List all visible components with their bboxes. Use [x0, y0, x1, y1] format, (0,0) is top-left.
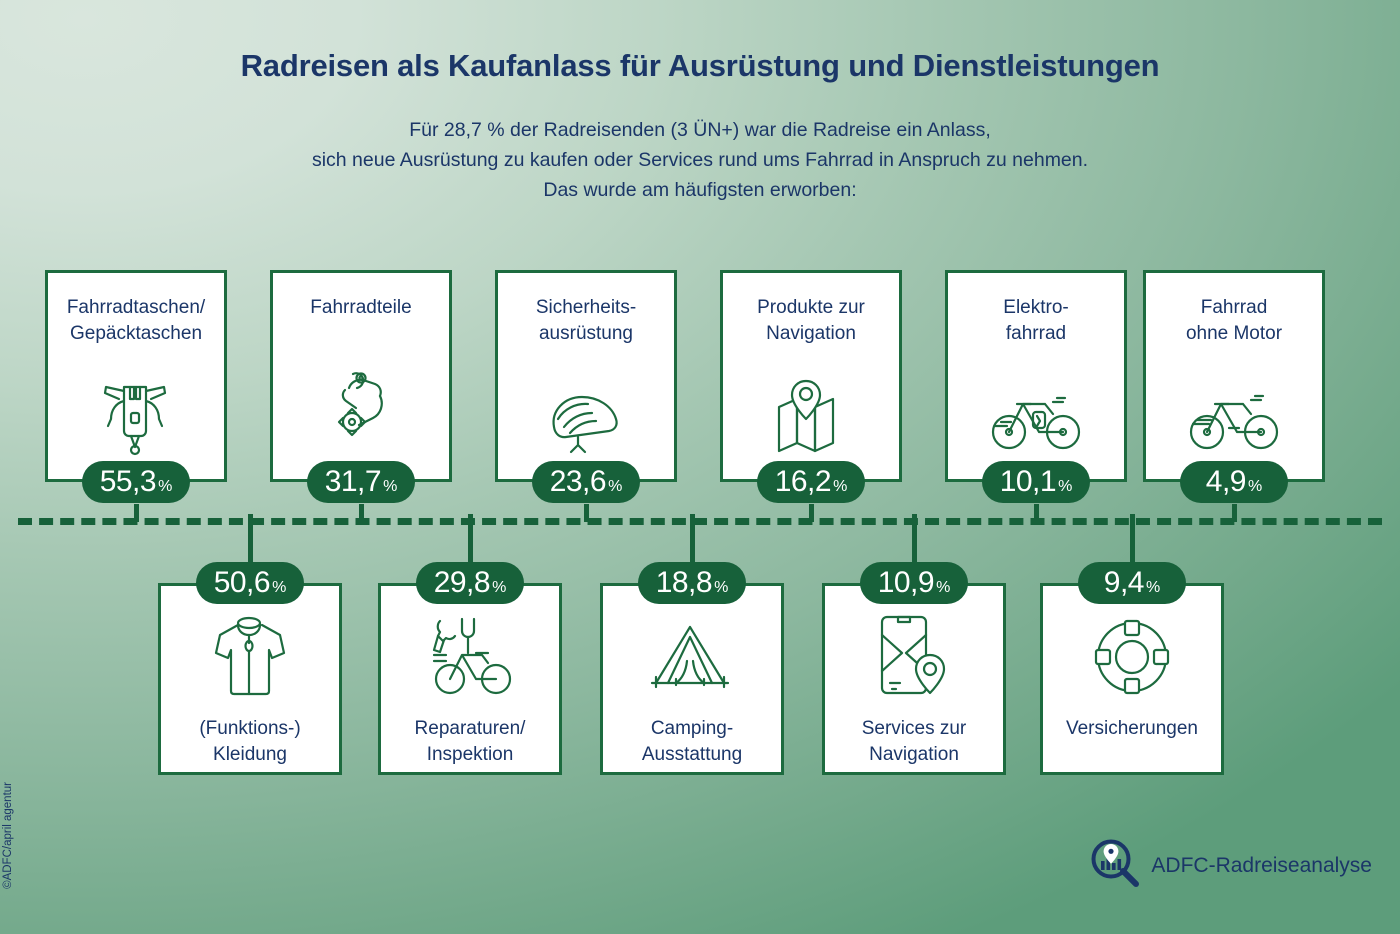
connector-stem	[359, 504, 364, 522]
card-label-line-2: Navigation	[825, 742, 1003, 768]
infographic-canvas: Radreisen als Kaufanlass für Ausrüstung …	[0, 0, 1400, 934]
card-label-line-2: Kleidung	[161, 742, 339, 768]
value-number: 10,9	[878, 562, 934, 604]
phone-map-icon	[825, 614, 1003, 700]
card-label: Camping-Ausstattung	[603, 716, 781, 768]
category-card-bottom[interactable]: Camping-Ausstattung	[600, 583, 784, 775]
card-label-line-2: fahrrad	[948, 321, 1124, 347]
value-pill-bottom: 50,6%	[196, 562, 304, 604]
card-label-line-1: Fahrradteile	[273, 295, 449, 321]
value-pill-bottom: 10,9%	[860, 562, 968, 604]
connector-stem	[1034, 504, 1039, 522]
card-label: Elektro-fahrrad	[948, 295, 1124, 347]
value-number: 29,8	[434, 562, 490, 604]
category-card-top[interactable]: Fahrradteile	[270, 270, 452, 482]
card-label-line-1: Services zur	[825, 716, 1003, 742]
percent-sign: %	[608, 478, 622, 496]
page-title: Radreisen als Kaufanlass für Ausrüstung …	[0, 48, 1400, 84]
value-pill-top: 23,6%	[532, 461, 640, 503]
category-card-top[interactable]: Elektro-fahrrad	[945, 270, 1127, 482]
value-pill-bottom: 9,4%	[1078, 562, 1186, 604]
magnifier-chart-icon	[1087, 837, 1141, 894]
card-label: Versicherungen	[1043, 716, 1221, 742]
lifebuoy-icon	[1043, 614, 1221, 700]
category-card-bottom[interactable]: Versicherungen	[1040, 583, 1224, 775]
percent-sign: %	[833, 478, 847, 496]
derailleur-icon	[273, 331, 449, 479]
connector-stem	[134, 504, 139, 522]
tools-bike-icon	[381, 614, 559, 700]
category-card-top[interactable]: Produkte zurNavigation	[720, 270, 902, 482]
percent-sign: %	[492, 579, 506, 597]
card-label-line-1: Versicherungen	[1043, 716, 1221, 742]
value-number: 4,9	[1206, 461, 1246, 503]
card-label: Produkte zurNavigation	[723, 295, 899, 347]
card-label-line-2: Gepäcktaschen	[48, 321, 224, 347]
value-number: 23,6	[550, 461, 606, 503]
card-label: Fahrradohne Motor	[1146, 295, 1322, 347]
card-label-line-2: Navigation	[723, 321, 899, 347]
percent-sign: %	[158, 478, 172, 496]
category-card-bottom[interactable]: (Funktions-)Kleidung	[158, 583, 342, 775]
value-pill-top: 55,3%	[82, 461, 190, 503]
card-label-line-2: Inspektion	[381, 742, 559, 768]
connector-stem	[1232, 504, 1237, 522]
card-label-line-1: Fahrradtaschen/	[48, 295, 224, 321]
card-label: Reparaturen/Inspektion	[381, 716, 559, 768]
card-label: Fahrradteile	[273, 295, 449, 321]
percent-sign: %	[383, 478, 397, 496]
value-number: 31,7	[325, 461, 381, 503]
value-pill-bottom: 29,8%	[416, 562, 524, 604]
page-subtitle: Für 28,7 % der Radreisenden (3 ÜN+) war …	[0, 115, 1400, 205]
category-card-top[interactable]: Fahrradohne Motor	[1143, 270, 1325, 482]
jersey-shirt-icon	[161, 614, 339, 700]
category-card-bottom[interactable]: Services zurNavigation	[822, 583, 1006, 775]
card-label-line-1: Produkte zur	[723, 295, 899, 321]
brand-name: ADFC-Radreiseanalyse	[1151, 854, 1372, 878]
percent-sign: %	[1058, 478, 1072, 496]
value-number: 9,4	[1104, 562, 1144, 604]
category-card-top[interactable]: Sicherheits-ausrüstung	[495, 270, 677, 482]
card-label: Fahrradtaschen/Gepäcktaschen	[48, 295, 224, 347]
card-label-line-1: (Funktions-)	[161, 716, 339, 742]
subtitle-line-1: Für 28,7 % der Radreisenden (3 ÜN+) war …	[0, 115, 1400, 145]
subtitle-line-3: Das wurde am häufigsten erworben:	[0, 175, 1400, 205]
card-label-line-2: Ausstattung	[603, 742, 781, 768]
value-number: 16,2	[775, 461, 831, 503]
card-label-line-2: ausrüstung	[498, 321, 674, 347]
card-label-line-1: Camping-	[603, 716, 781, 742]
card-label-line-2: ohne Motor	[1146, 321, 1322, 347]
brand-logo: ADFC-Radreiseanalyse	[1087, 837, 1372, 894]
card-label: Sicherheits-ausrüstung	[498, 295, 674, 347]
dashed-baseline	[18, 518, 1382, 525]
copyright-notice: ©ADFC/april agentur	[2, 782, 14, 889]
percent-sign: %	[1248, 478, 1262, 496]
connector-stem	[809, 504, 814, 522]
value-number: 18,8	[656, 562, 712, 604]
percent-sign: %	[1146, 579, 1160, 597]
value-number: 50,6	[214, 562, 270, 604]
category-card-top[interactable]: Fahrradtaschen/Gepäcktaschen	[45, 270, 227, 482]
value-pill-top: 31,7%	[307, 461, 415, 503]
connector-stem	[584, 504, 589, 522]
subtitle-line-2: sich neue Ausrüstung zu kaufen oder Serv…	[0, 145, 1400, 175]
card-label: Services zurNavigation	[825, 716, 1003, 768]
category-card-bottom[interactable]: Reparaturen/Inspektion	[378, 583, 562, 775]
tent-icon	[603, 614, 781, 700]
card-label-line-1: Sicherheits-	[498, 295, 674, 321]
value-number: 55,3	[100, 461, 156, 503]
card-label-line-1: Reparaturen/	[381, 716, 559, 742]
card-label: (Funktions-)Kleidung	[161, 716, 339, 768]
card-label-line-1: Fahrrad	[1146, 295, 1322, 321]
card-label-line-1: Elektro-	[948, 295, 1124, 321]
percent-sign: %	[272, 579, 286, 597]
value-pill-bottom: 18,8%	[638, 562, 746, 604]
value-pill-top: 4,9%	[1180, 461, 1288, 503]
value-pill-top: 16,2%	[757, 461, 865, 503]
percent-sign: %	[936, 579, 950, 597]
percent-sign: %	[714, 579, 728, 597]
value-number: 10,1	[1000, 461, 1056, 503]
value-pill-top: 10,1%	[982, 461, 1090, 503]
